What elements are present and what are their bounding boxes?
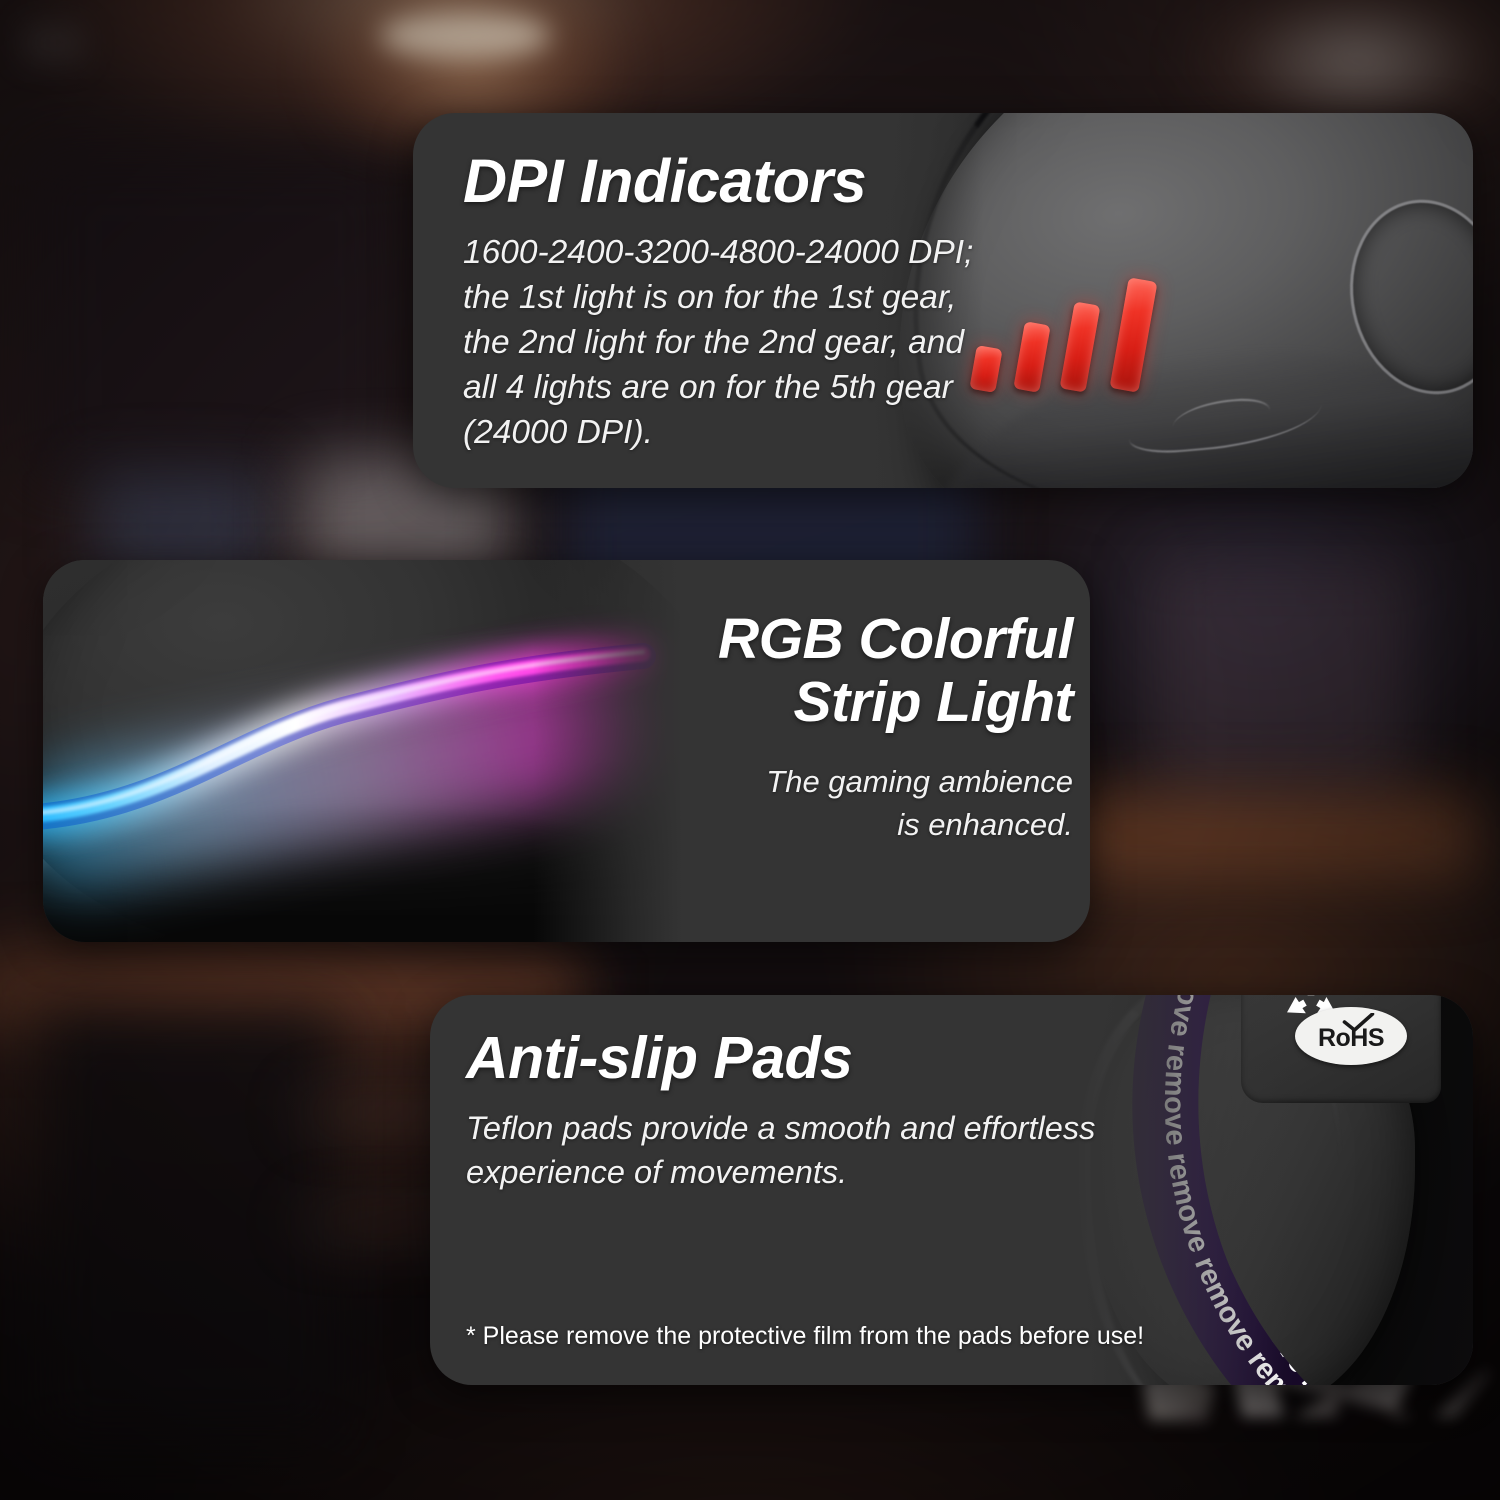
rgb-strip-curve-icon (43, 560, 683, 942)
rgb-strip-light (43, 560, 683, 942)
rgb-text-block: RGB Colorful Strip Light The gaming ambi… (643, 608, 1073, 847)
rohs-badge: RoHS (1295, 1007, 1407, 1065)
dpi-led-group (973, 241, 1293, 391)
rgb-subtitle-line2: is enhanced. (897, 807, 1073, 842)
checkmark-icon (1341, 1013, 1375, 1033)
pads-title: Anti-slip Pads (466, 1027, 1166, 1090)
rgb-mouse-photo (43, 560, 683, 942)
pads-body-text: Teflon pads provide a smooth and effortl… (466, 1106, 1166, 1194)
panel-dpi-indicators: DPI Indicators 1600-2400-3200-4800-24000… (413, 113, 1473, 488)
rgb-title-line2: Strip Light (794, 670, 1073, 734)
panel-anti-slip-pads: remove remove remove remove remove remov… (430, 995, 1473, 1385)
dpi-title: DPI Indicators (463, 149, 993, 214)
dpi-led-3 (1060, 301, 1101, 392)
pads-footnote: * Please remove the protective film from… (466, 1322, 1144, 1351)
pads-text-block: Anti-slip Pads Teflon pads provide a smo… (466, 1027, 1166, 1194)
dpi-led-2 (1013, 321, 1050, 392)
panel-rgb-strip-light: RGB Colorful Strip Light The gaming ambi… (43, 560, 1090, 942)
dpi-led-4 (1109, 277, 1157, 392)
dpi-text-block: DPI Indicators 1600-2400-3200-4800-24000… (463, 149, 993, 455)
product-infographic: DPI Indicators 1600-2400-3200-4800-24000… (0, 0, 1500, 1500)
rgb-title: RGB Colorful Strip Light (643, 608, 1073, 733)
rgb-subtitle-line1: The gaming ambience (766, 764, 1073, 799)
rgb-subtitle: The gaming ambience is enhanced. (643, 761, 1073, 847)
rgb-title-line1: RGB Colorful (718, 607, 1073, 671)
dpi-body-text: 1600-2400-3200-4800-24000 DPI; the 1st l… (463, 230, 993, 455)
mouse-bottom-label: RoHS (1241, 995, 1441, 1103)
